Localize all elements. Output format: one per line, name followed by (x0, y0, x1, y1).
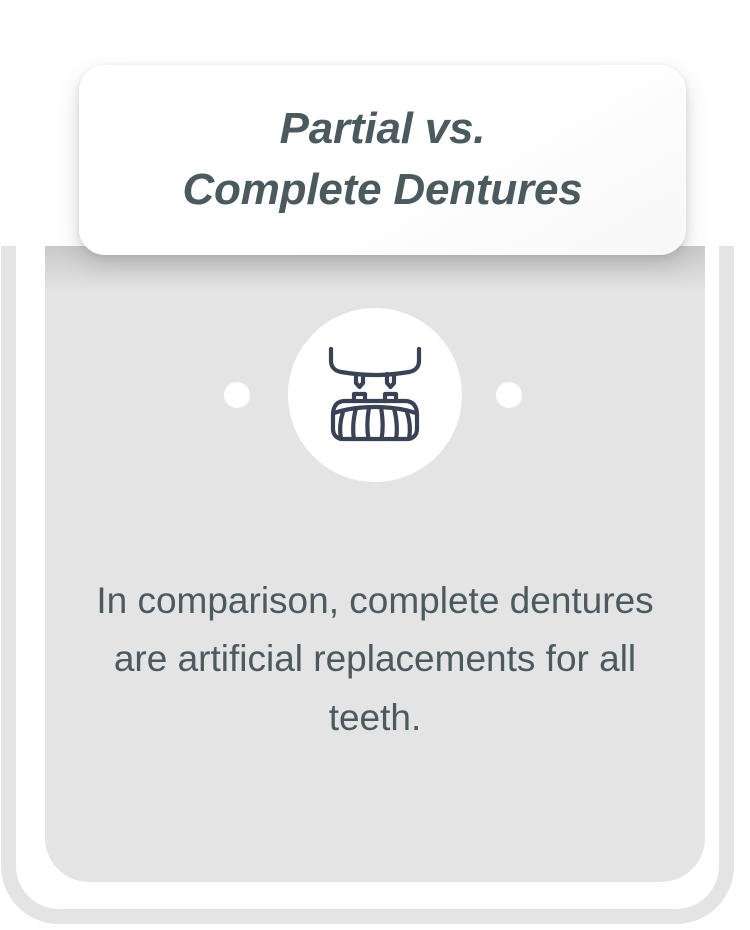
card-body-text: In comparison, complete dentures are art… (85, 572, 665, 747)
decorative-dot-left (224, 382, 250, 408)
icon-badge (288, 308, 462, 482)
card-stage: Partial vs. Complete Dentures In compari… (0, 0, 750, 930)
outer-frame-top-right-stub (719, 246, 734, 268)
outer-frame-top-left-stub (1, 246, 16, 268)
title-plate: Partial vs. Complete Dentures (79, 65, 686, 255)
card-title: Partial vs. Complete Dentures (158, 99, 606, 220)
dentures-icon (323, 345, 427, 445)
decorative-dot-right (496, 382, 522, 408)
